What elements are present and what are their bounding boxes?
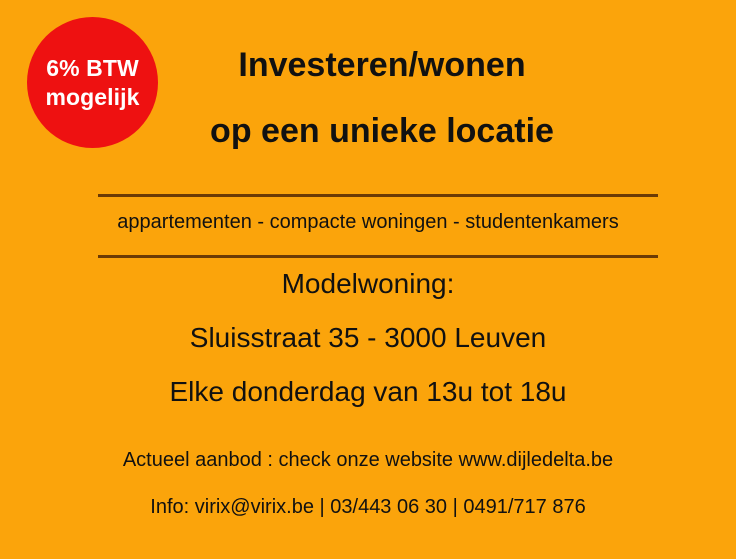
advertisement-poster: 6% BTW mogelijk Investeren/wonen op een …: [0, 0, 736, 559]
headline-line-2: op een unieke locatie: [28, 114, 736, 148]
property-categories: appartementen - compacte woningen - stud…: [0, 211, 736, 234]
showhouse-label: Modelwoning:: [0, 270, 736, 298]
headline-block: Investeren/wonen op een unieke locatie: [0, 48, 736, 148]
showhouse-address: Sluisstraat 35 - 3000 Leuven: [0, 324, 736, 352]
website-line: Actueel aanbod : check onze website www.…: [0, 450, 736, 470]
headline-line-1: Investeren/wonen: [28, 48, 736, 82]
contact-line: Info: virix@virix.be | 03/443 06 30 | 04…: [0, 497, 736, 517]
contact-block: Actueel aanbod : check onze website www.…: [0, 450, 736, 517]
showhouse-opening-hours: Elke donderdag van 13u tot 18u: [0, 378, 736, 406]
showhouse-info-block: Modelwoning: Sluisstraat 35 - 3000 Leuve…: [0, 270, 736, 406]
divider-rule-top: [98, 194, 658, 197]
divider-rule-bottom: [98, 255, 658, 258]
